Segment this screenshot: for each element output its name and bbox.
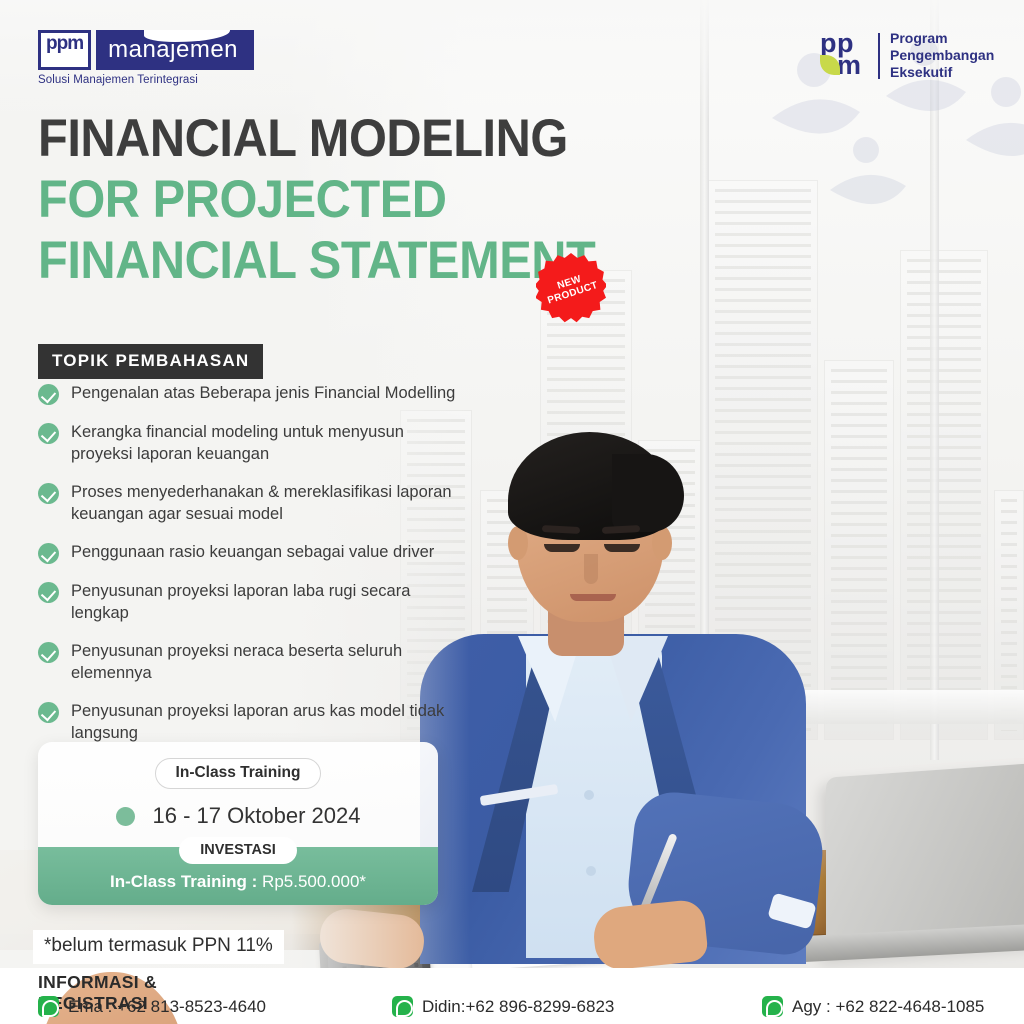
topic-text: Pengenalan atas Beberapa jenis Financial… — [71, 382, 455, 404]
ppm-manajemen-logo: ppm manajemen Solusi Manajemen Terintegr… — [38, 30, 254, 86]
contact-ema[interactable]: Ema : +62 813-8523-4640 — [38, 996, 266, 1017]
contact-phone: +62 822-4648-1085 — [835, 997, 984, 1016]
contact-name: Didin: — [422, 997, 465, 1016]
tax-note: *belum termasuk PPN 11% — [33, 930, 284, 964]
list-item: Penyusunan proyeksi neraca beserta selur… — [38, 640, 458, 684]
contact-text: Didin:+62 896-8299-6823 — [422, 997, 614, 1017]
program-name: Program Pengembangan Eksekutif — [890, 30, 994, 81]
program-line-1: Program — [890, 30, 994, 47]
manajemen-wordmark: manajemen — [96, 30, 254, 70]
check-circle-icon — [38, 543, 59, 564]
check-circle-icon — [38, 702, 59, 723]
footer-bar: INFORMASI & REGISTRASI Ema : +62 813-852… — [0, 968, 1024, 1024]
investment-label: In-Class Training : — [110, 872, 257, 891]
training-date: 16 - 17 Oktober 2024 — [153, 803, 361, 829]
list-item: Kerangka financial modeling untuk menyus… — [38, 421, 458, 465]
topic-text: Penyusunan proyeksi laporan laba rugi se… — [71, 580, 458, 624]
topics-heading: TOPIK PEMBAHASAN — [38, 344, 263, 379]
contact-text: Agy : +62 822-4648-1085 — [792, 997, 984, 1017]
contact-didin[interactable]: Didin:+62 896-8299-6823 — [392, 996, 614, 1017]
program-line-3: Eksekutif — [890, 64, 994, 81]
check-circle-icon — [38, 423, 59, 444]
title-line-1: FINANCIAL MODELING — [38, 108, 608, 169]
list-item: Pengenalan atas Beberapa jenis Financial… — [38, 382, 458, 405]
date-row: 16 - 17 Oktober 2024 — [38, 803, 438, 829]
investment-pill: INVESTASI — [179, 837, 296, 864]
whatsapp-icon[interactable] — [38, 996, 59, 1017]
new-product-badge: NEW PRODUCT — [536, 253, 606, 323]
topic-text: Penggunaan rasio keuangan sebagai value … — [71, 541, 434, 563]
topic-text: Proses menyederhanakan & mereklasifikasi… — [71, 481, 458, 525]
ppm-monogram-text: ppm — [46, 33, 83, 54]
list-item: Penyusunan proyeksi laporan laba rugi se… — [38, 580, 458, 624]
ppm-eksekutif-logo: ppm Program Pengembangan Eksekutif — [820, 30, 994, 81]
ppm-monogram: ppm — [38, 30, 91, 70]
list-item: Penyusunan proyeksi laporan arus kas mod… — [38, 700, 458, 744]
contact-phone: +62 813-8523-4640 — [117, 997, 266, 1016]
format-pill: In-Class Training — [155, 758, 322, 789]
investment-price: Rp5.500.000* — [257, 872, 366, 891]
check-circle-icon — [38, 483, 59, 504]
topic-text: Penyusunan proyeksi neraca beserta selur… — [71, 640, 458, 684]
contact-name: Ema : — [68, 997, 117, 1016]
investment-section: INVESTASI In-Class Training : Rp5.500.00… — [38, 847, 438, 905]
check-circle-icon — [38, 384, 59, 405]
whatsapp-icon[interactable] — [762, 996, 783, 1017]
contact-phone: +62 896-8299-6823 — [465, 997, 614, 1016]
whatsapp-icon[interactable] — [392, 996, 413, 1017]
contact-name: Agy : — [792, 997, 835, 1016]
bullet-dot-icon — [116, 807, 135, 826]
list-item: Penggunaan rasio keuangan sebagai value … — [38, 541, 458, 564]
topic-text: Kerangka financial modeling untuk menyus… — [71, 421, 458, 465]
check-circle-icon — [38, 642, 59, 663]
topic-text: Penyusunan proyeksi laporan arus kas mod… — [71, 700, 458, 744]
logo-divider — [878, 33, 880, 79]
schedule-section: In-Class Training 16 - 17 Oktober 2024 — [38, 742, 438, 847]
title-line-2: FOR PROJECTED — [38, 169, 608, 230]
program-line-2: Pengembangan — [890, 47, 994, 64]
investment-line: In-Class Training : Rp5.500.000* — [38, 872, 438, 892]
contact-text: Ema : +62 813-8523-4640 — [68, 997, 266, 1017]
ppm-leaf-monogram: ppm — [820, 31, 868, 81]
title-line-3: FINANCIAL STATEMENT — [38, 230, 608, 291]
contact-agy[interactable]: Agy : +62 822-4648-1085 — [762, 996, 984, 1017]
schedule-investment-card: In-Class Training 16 - 17 Oktober 2024 I… — [38, 742, 438, 905]
poster-canvas: ppm manajemen Solusi Manajemen Terintegr… — [0, 0, 1024, 1024]
logo-tagline: Solusi Manajemen Terintegrasi — [38, 74, 254, 86]
check-circle-icon — [38, 582, 59, 603]
topics-list: Pengenalan atas Beberapa jenis Financial… — [38, 382, 458, 760]
list-item: Proses menyederhanakan & mereklasifikasi… — [38, 481, 458, 525]
